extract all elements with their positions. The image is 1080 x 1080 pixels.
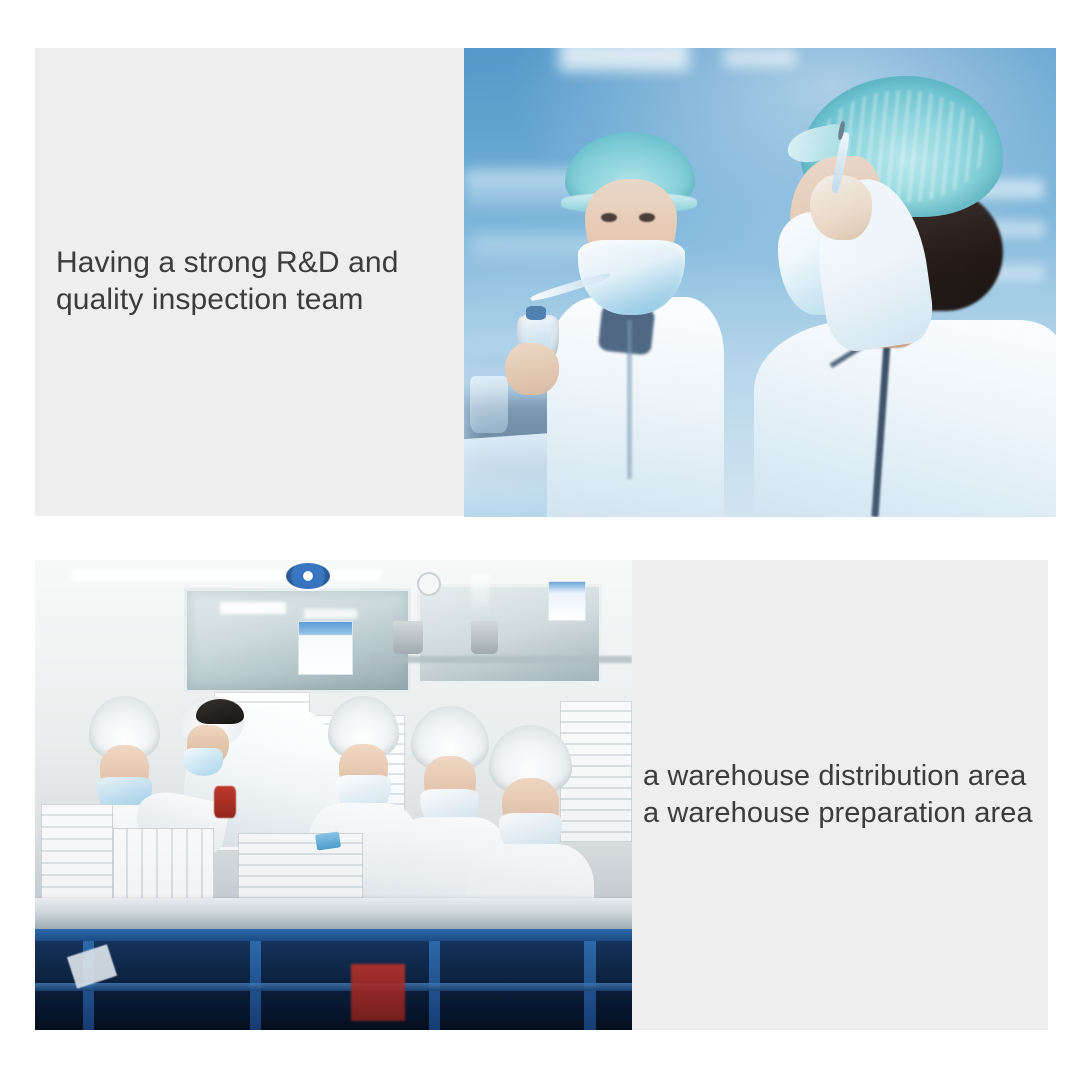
warehouse-packing-area-photo [35,560,632,1030]
composite-image-stage: Having a strong R&D and quality inspecti… [0,0,1080,1080]
bottom-caption-panel: a warehouse distribution area a warehous… [632,560,1048,1030]
photo-haze-overlay [464,48,1056,517]
top-caption-text: Having a strong R&D and quality inspecti… [35,245,408,319]
photo-overlay [35,560,632,1030]
top-caption-panel: Having a strong R&D and quality inspecti… [35,48,464,516]
bottom-caption-text: a warehouse distribution area a warehous… [632,758,1039,832]
laboratory-quality-inspection-photo [464,48,1056,517]
